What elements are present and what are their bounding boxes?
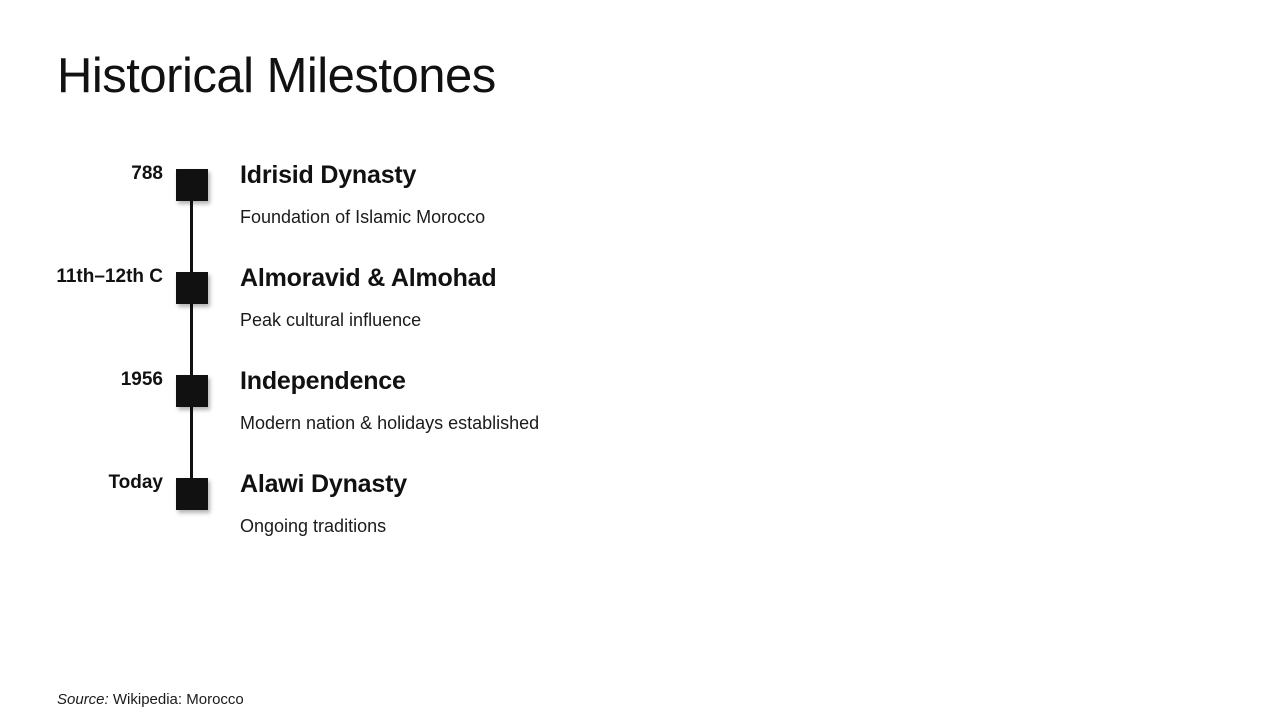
slide-canvas: Historical Milestones 788 Idrisid Dynast…: [0, 0, 1280, 720]
timeline-marker-square-icon: [176, 169, 208, 201]
timeline-entry-description: Ongoing traditions: [240, 515, 1140, 538]
timeline-entry-title: Alawi Dynasty: [240, 469, 1140, 500]
timeline-entry-description: Modern nation & holidays established: [240, 412, 1140, 435]
timeline-entry-date: Today: [0, 471, 163, 495]
timeline-entry-description: Peak cultural influence: [240, 309, 1140, 332]
source-value: Wikipedia: Morocco: [113, 691, 244, 708]
timeline-entry-description: Foundation of Islamic Morocco: [240, 206, 1140, 229]
timeline: 788 Idrisid Dynasty Foundation of Islami…: [0, 152, 1280, 564]
page-title: Historical Milestones: [57, 50, 496, 104]
timeline-entry-body: Idrisid Dynasty Foundation of Islamic Mo…: [240, 160, 1140, 230]
source-label: Source:: [57, 691, 109, 708]
timeline-entry-title: Almoravid & Almohad: [240, 263, 1140, 294]
timeline-marker-square-icon: [176, 272, 208, 304]
source-footer: Source: Wikipedia: Morocco: [57, 691, 244, 708]
timeline-entry-date: 11th–12th C: [0, 265, 163, 289]
timeline-entry-title: Idrisid Dynasty: [240, 160, 1140, 191]
timeline-marker-square-icon: [176, 478, 208, 510]
timeline-entry-date: 788: [0, 162, 163, 186]
timeline-entry-body: Independence Modern nation & holidays es…: [240, 366, 1140, 436]
timeline-entry-date: 1956: [0, 368, 163, 392]
timeline-entry-title: Independence: [240, 366, 1140, 397]
timeline-marker-square-icon: [176, 375, 208, 407]
timeline-entry-body: Alawi Dynasty Ongoing traditions: [240, 469, 1140, 539]
timeline-axis-line: [190, 177, 193, 487]
timeline-entry-body: Almoravid & Almohad Peak cultural influe…: [240, 263, 1140, 333]
